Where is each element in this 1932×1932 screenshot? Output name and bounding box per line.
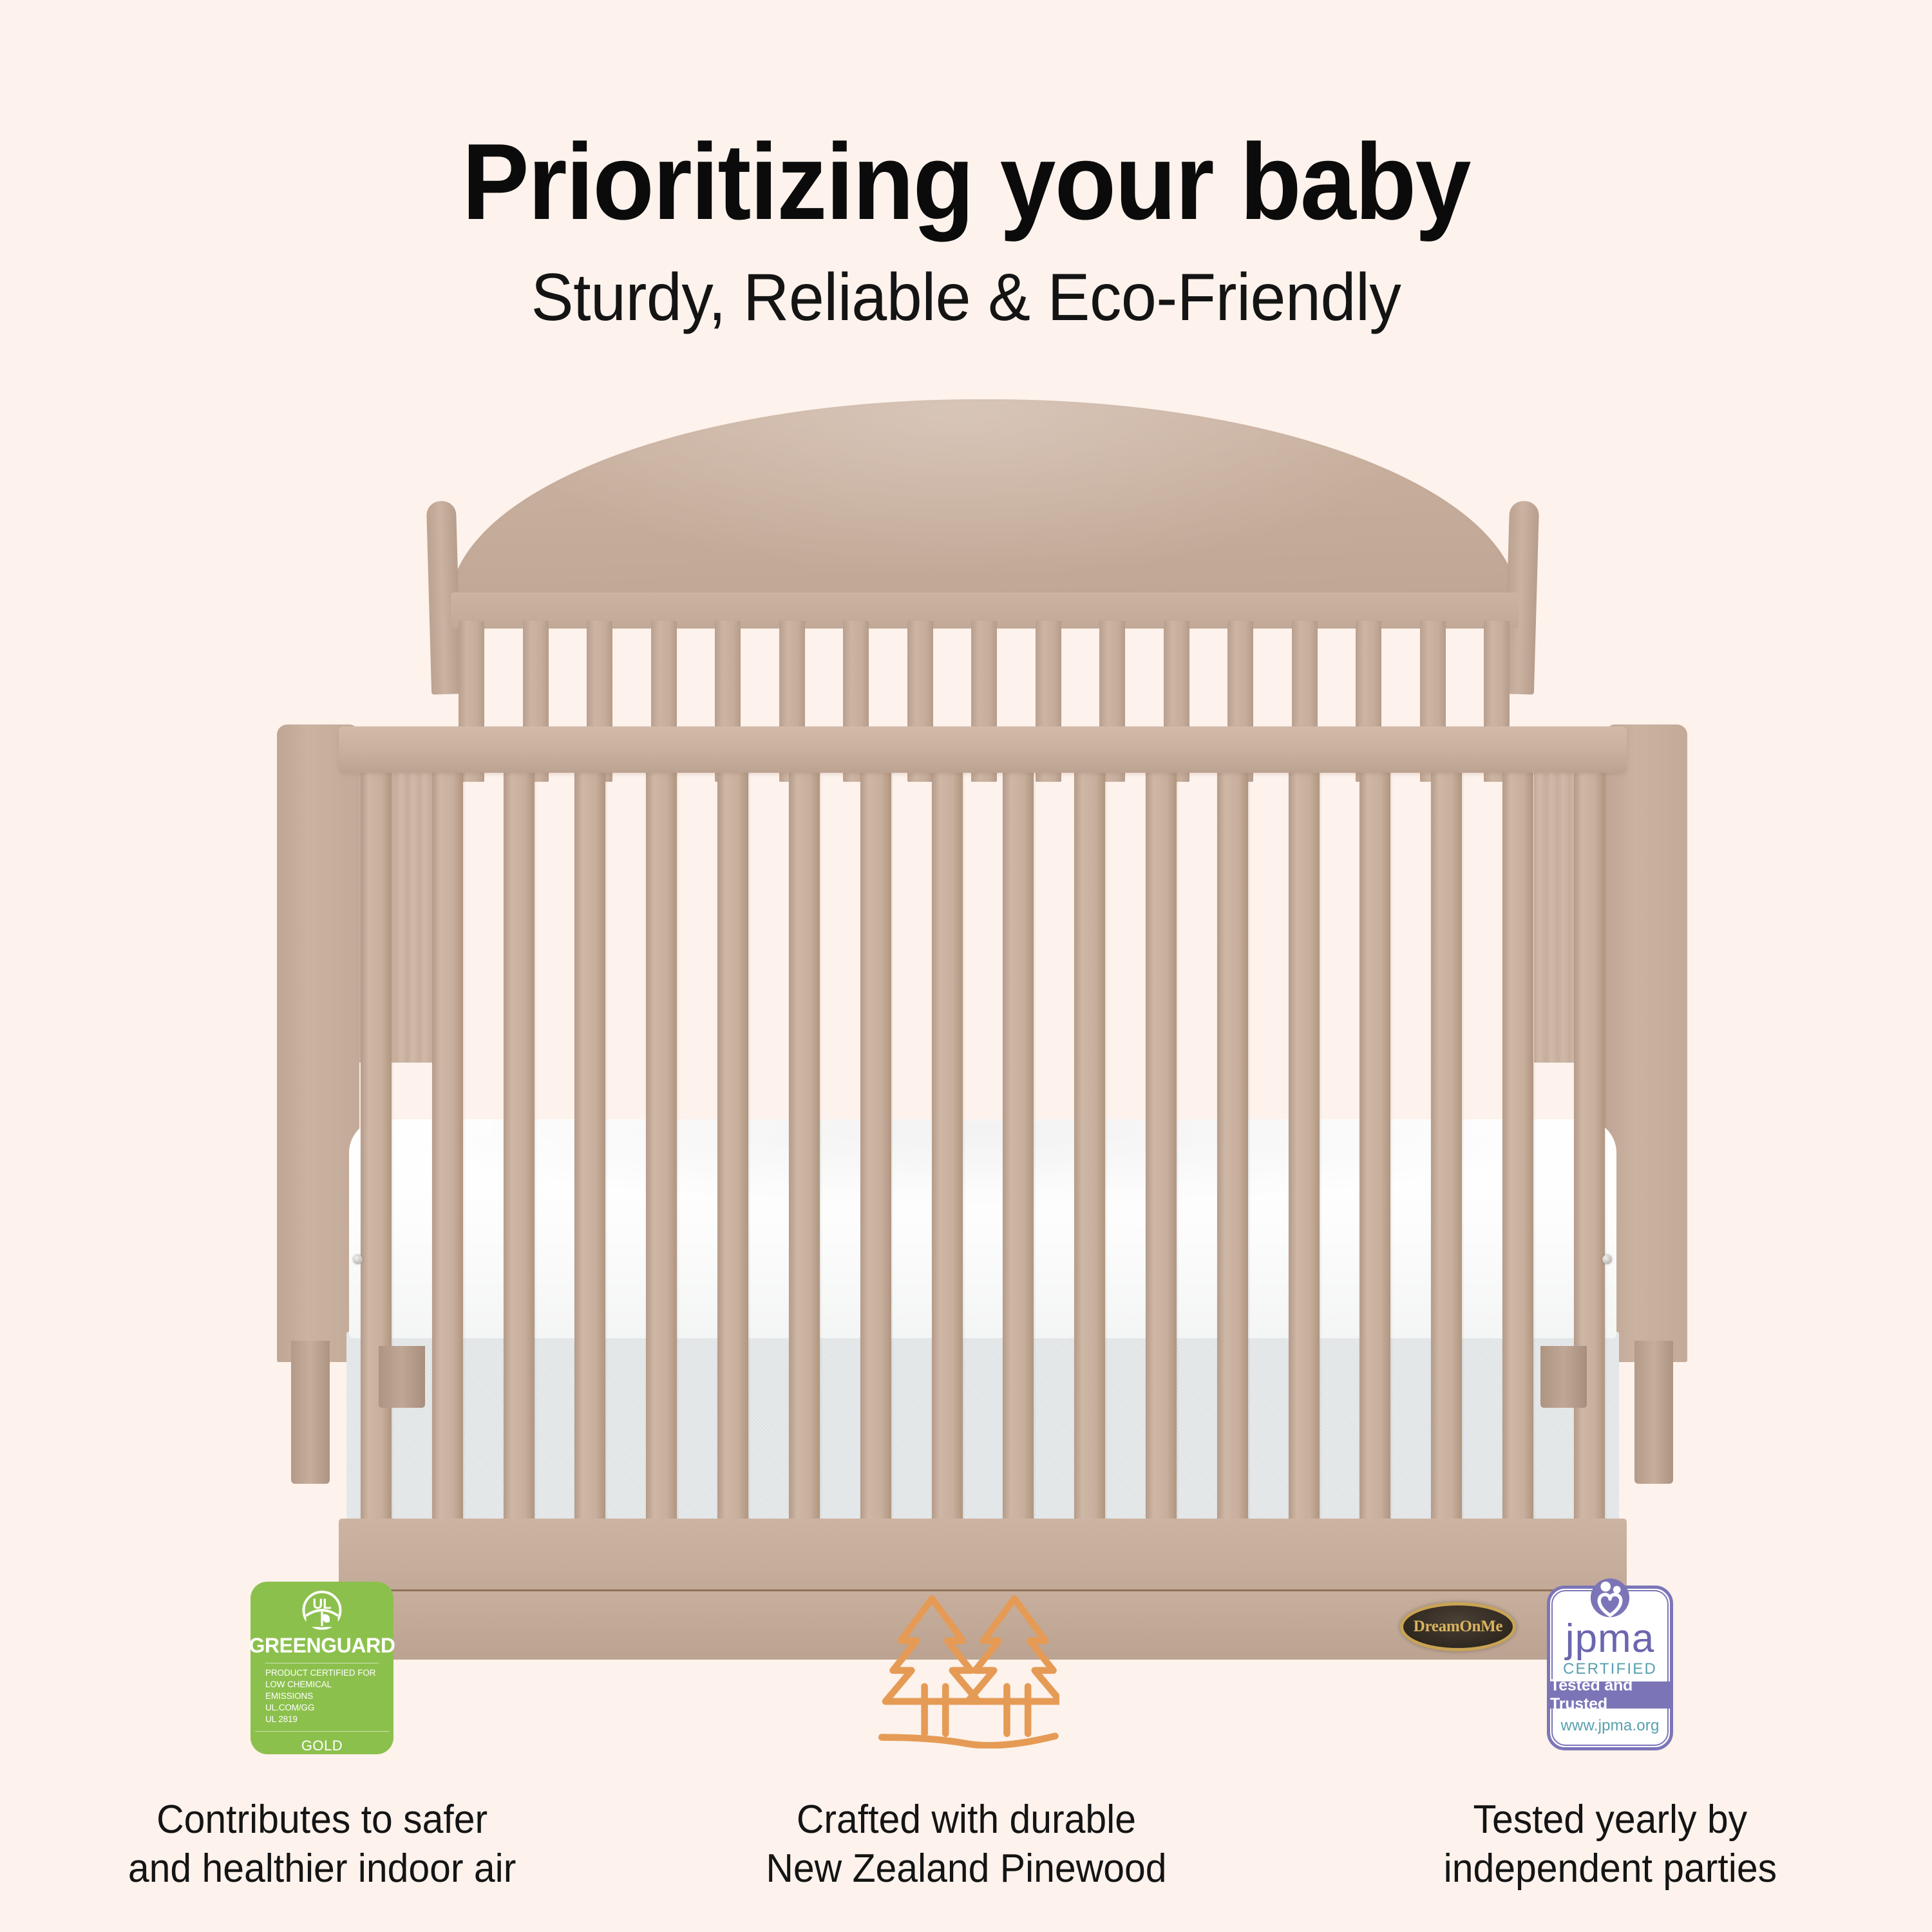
feature-jpma: jpma CERTIFIED Tested and Trusted www.jp… [1288, 1571, 1932, 1894]
crib-front-slat [1146, 757, 1177, 1530]
crib-front-slat [717, 757, 748, 1530]
crib-front-slat [932, 757, 963, 1530]
crib-side-panel-left [277, 724, 359, 1362]
page-title: Prioritizing your baby [68, 0, 1864, 236]
pinewood-badge-wrap [873, 1571, 1059, 1765]
convertible-crib: DreamOnMe [277, 399, 1687, 1552]
crib-center-foot-right [1540, 1346, 1587, 1408]
headboard-highlight [450, 399, 1519, 618]
jpma-wordmark: jpma [1538, 1619, 1682, 1659]
crib-front-slat [1574, 757, 1605, 1530]
crib-front-slat [860, 757, 891, 1530]
crib-top-rail [339, 726, 1627, 773]
greenguard-gold-badge: UL GREENGUARD PRODUCT CERTIFIED FOR LOW … [251, 1582, 393, 1754]
feature-caption-jpma: Tested yearly by independent parties [1443, 1795, 1776, 1894]
feature-badges-row: UL GREENGUARD PRODUCT CERTIFIED FOR LOW … [0, 1571, 1932, 1894]
pine-trees-icon [873, 1587, 1059, 1748]
crib-front-slat [1289, 757, 1320, 1530]
crib-front-slat [361, 757, 392, 1530]
jpma-certified-label: CERTIFIED [1538, 1660, 1682, 1678]
crib-front-slat [789, 757, 820, 1530]
feature-greenguard: UL GREENGUARD PRODUCT CERTIFIED FOR LOW … [0, 1571, 644, 1894]
crib-front-slat [1359, 757, 1390, 1530]
crib-front-slat [574, 757, 605, 1530]
crib-center-foot-left [379, 1346, 425, 1408]
greenguard-certification-lines: PRODUCT CERTIFIED FOR LOW CHEMICAL EMISS… [265, 1667, 379, 1725]
greenguard-tier: GOLD [301, 1738, 343, 1754]
greenguard-name: GREENGUARD [249, 1634, 395, 1658]
svg-text:UL: UL [312, 1596, 331, 1612]
crib-front-slat [1217, 757, 1248, 1530]
header: Prioritizing your baby Sturdy, Reliable … [0, 0, 1932, 331]
greenguard-badge-wrap: UL GREENGUARD PRODUCT CERTIFIED FOR LOW … [251, 1571, 393, 1765]
crib-side-panel-right [1605, 724, 1687, 1362]
crib-leg-left [291, 1341, 330, 1484]
jpma-badge-wrap: jpma CERTIFIED Tested and Trusted www.jp… [1538, 1571, 1682, 1765]
greenguard-divider-bottom [255, 1731, 389, 1732]
jpma-tested-label: Tested and Trusted [1550, 1676, 1670, 1714]
crib-front-slat [1502, 757, 1533, 1530]
crib-leg-right [1634, 1341, 1673, 1484]
crib-front-slat [1074, 757, 1105, 1530]
feature-caption-pinewood: Crafted with durable New Zealand Pinewoo… [766, 1795, 1166, 1894]
crib-front-slats [361, 757, 1605, 1530]
crib-front-slat [646, 757, 677, 1530]
crib-front-slat [1003, 757, 1034, 1530]
mattress-bracket-screw-right [1602, 1255, 1612, 1264]
product-image: DreamOnMe [0, 399, 1932, 1558]
crib-front-slat [1431, 757, 1462, 1530]
ul-leaf-icon: UL [294, 1589, 350, 1631]
jpma-tested-band: Tested and Trusted [1550, 1681, 1670, 1709]
crib-front-slat [504, 757, 535, 1530]
mattress-bracket-screw-left [353, 1255, 363, 1264]
jpma-certified-badge: jpma CERTIFIED Tested and Trusted www.jp… [1538, 1578, 1682, 1758]
crib-headboard-arch [450, 399, 1519, 618]
page-subtitle: Sturdy, Reliable & Eco-Friendly [48, 236, 1884, 331]
crib-front-slat [432, 757, 463, 1530]
feature-caption-greenguard: Contributes to safer and healthier indoo… [128, 1795, 516, 1894]
jpma-url: www.jpma.org [1538, 1717, 1682, 1735]
feature-pinewood: Crafted with durable New Zealand Pinewoo… [644, 1571, 1288, 1894]
greenguard-divider-top [265, 1663, 379, 1663]
parent-child-heart-icon [1588, 1578, 1632, 1622]
